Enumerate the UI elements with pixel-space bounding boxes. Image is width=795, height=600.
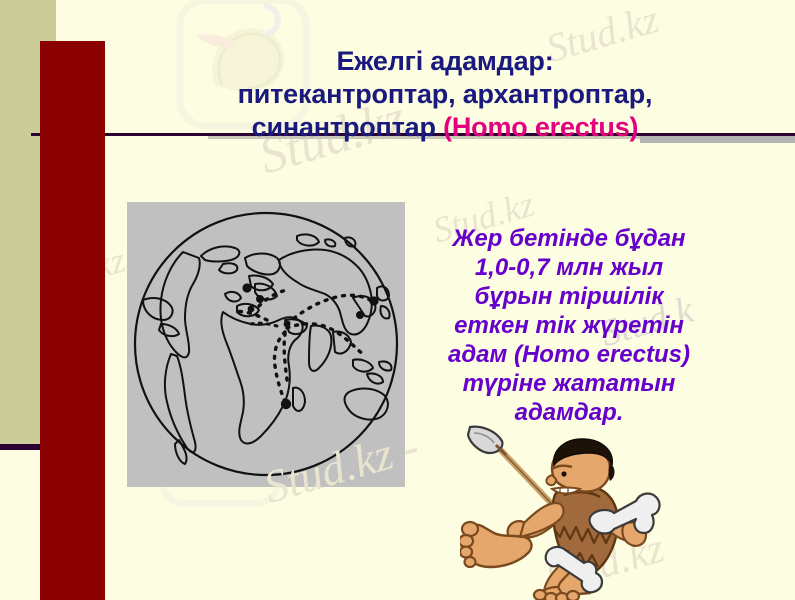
- decor-horizontal-rule-bottom: [0, 444, 41, 450]
- body-line-4: еткен тік жүретін: [410, 311, 728, 340]
- body-line-6: түріне жататын: [410, 369, 728, 398]
- body-line-5: адам (Homo erectus): [410, 340, 728, 369]
- decor-red-band: [40, 41, 105, 600]
- globe-image-panel: [127, 202, 405, 487]
- body-line-7: адамдар.: [410, 398, 728, 427]
- title-line-1: Ежелгі адамдар:: [110, 45, 780, 78]
- slide-canvas: Stud.kz Stud.kz Stud.kz z - Stud.kz Stud…: [0, 0, 795, 600]
- caveman-illustration: [460, 425, 700, 600]
- body-line-2: 1,0-0,7 млн жыл: [410, 253, 728, 282]
- body-line-1: Жер бетінде бұдан: [410, 224, 728, 253]
- page-title: Ежелгі адамдар: питекантроптар, архантро…: [110, 45, 780, 144]
- title-line-3-latin: (Homo erectus): [443, 112, 638, 142]
- title-line-3: синантроптар (Homo erectus): [110, 111, 780, 144]
- title-line-3-cyrillic: синантроптар: [252, 112, 443, 142]
- body-text-block: Жер бетінде бұдан 1,0-0,7 млн жыл бұрын …: [410, 224, 728, 427]
- title-line-2: питекантроптар, архантроптар,: [110, 78, 780, 111]
- body-line-3: бұрын тіршілік: [410, 282, 728, 311]
